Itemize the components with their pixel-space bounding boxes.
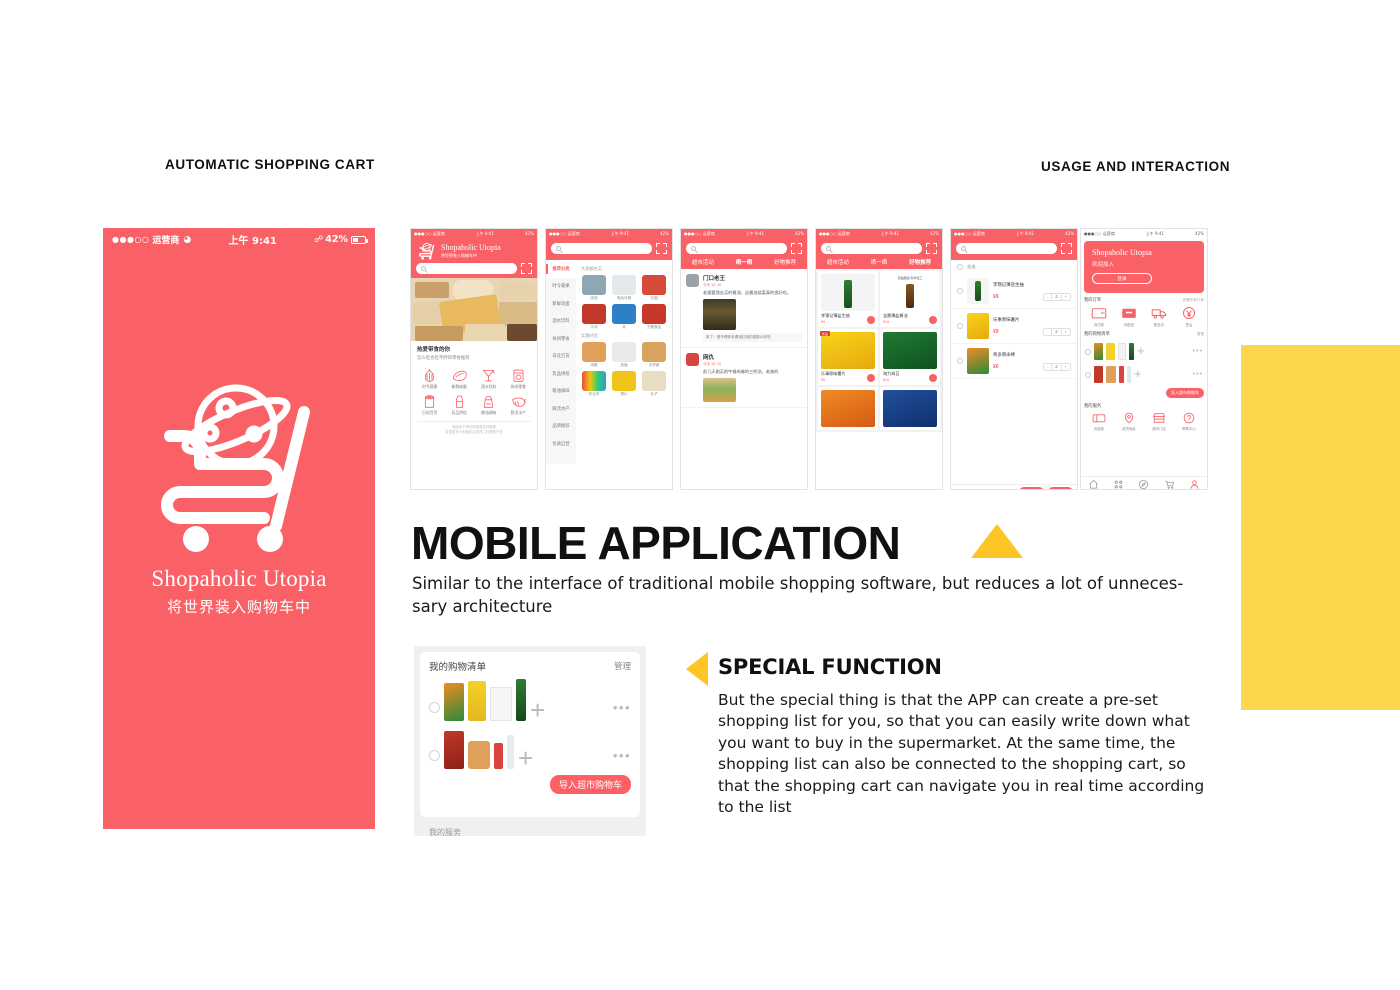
product-item[interactable]: 选面	[610, 342, 638, 368]
cart-icon	[1164, 479, 1175, 490]
category-item[interactable]: 新鲜肉蛋	[445, 368, 475, 390]
product-image	[642, 304, 666, 324]
product-thumb	[1127, 366, 1131, 383]
triangle-left-icon	[686, 652, 708, 686]
product-thumb	[516, 679, 526, 721]
import-to-cart-button[interactable]: 导入超市购物车	[1166, 388, 1204, 398]
brand-subtitle: 将世界装入购物车中	[441, 253, 501, 259]
select-all-row[interactable]: 全选	[951, 260, 1077, 274]
decrease-button[interactable]: -	[1044, 294, 1051, 300]
sidebar-item-9[interactable]: 品牌推荐	[546, 418, 576, 436]
vegetable-icon	[421, 368, 438, 383]
refund-icon	[1181, 306, 1197, 320]
quantity-stepper[interactable]: - 2 +	[1043, 293, 1071, 301]
sidebar-item-1[interactable]: 时令蔬果	[546, 278, 576, 296]
status-left: ●●●○○ 运营商	[819, 232, 850, 236]
decrease-button[interactable]: -	[1044, 364, 1051, 370]
triangle-up-icon	[971, 524, 1023, 558]
rice-bag-icon	[480, 394, 497, 409]
plus-icon[interactable]: +	[530, 703, 545, 717]
location-icon	[1122, 412, 1136, 424]
product-item[interactable]: 鸡蛋	[580, 342, 608, 368]
product-card[interactable]: 海力海苔 ¥13	[880, 329, 940, 385]
search-icon	[556, 246, 561, 251]
promo-subtitle: 怎么吃也吃不胖的零食推荐	[417, 355, 531, 361]
product-item[interactable]: 电动牙刷	[610, 275, 638, 301]
product-thumb	[1094, 366, 1103, 383]
shopping-cart-planet-logo	[144, 376, 334, 556]
home-brand-bar: Shopaholic Utopia 将世界装入购物车中	[411, 238, 537, 260]
order-status-item[interactable]: 售后	[1181, 306, 1197, 327]
category-label: 鲜活水产	[511, 411, 526, 416]
service-label: 优惠券	[1094, 426, 1104, 431]
sidebar-item-7[interactable]: 粮油调味	[546, 383, 576, 401]
list-item[interactable]: + •••	[429, 725, 631, 773]
service-item[interactable]: 超市门店	[1152, 412, 1166, 431]
category-label: 酒水饮料	[481, 385, 496, 390]
accent-panel	[1241, 345, 1400, 710]
shrimp-icon	[510, 394, 527, 409]
sidebar-label: 鲜活水产	[552, 406, 569, 412]
product-item[interactable]: 方便食品	[640, 304, 668, 330]
category-item[interactable]: 乳品烘焙	[445, 394, 475, 416]
shopping-list-section: 我的购物清单 管理 + •••	[1084, 331, 1204, 398]
bluetooth-icon: ☍	[314, 235, 323, 245]
category-item[interactable]: 时令蔬果	[415, 368, 445, 390]
category-products: 大家都在买 床品 电动牙刷 白酒 牛肉 米 方便食品 实惠好货 鸡蛋 选面	[576, 260, 672, 464]
radio-icon[interactable]	[957, 288, 963, 294]
product-label: 选面	[620, 363, 627, 368]
page-subtitle: Similar to the interface of traditional …	[412, 572, 1202, 619]
order-status-item[interactable]: 待配送	[1121, 306, 1137, 327]
product-image	[967, 348, 989, 374]
product-thumb	[1118, 343, 1126, 360]
category-sidebar: 推荐分类 时令蔬果 新鲜肉蛋 酒水饮料 休闲零食 日化百货 乳品烘焙 粮油调味 …	[546, 260, 576, 464]
decrease-button[interactable]: -	[1044, 329, 1051, 335]
radio-icon[interactable]	[1085, 349, 1091, 355]
brand-title: Shopaholic Utopia	[441, 243, 501, 252]
search-input[interactable]	[821, 243, 922, 254]
product-thumb	[494, 743, 503, 769]
detail-title: 我的购物清单	[429, 659, 486, 673]
cart-item[interactable]: 李锦记薄盐生抽 ¥9 - 2 +	[951, 274, 1077, 309]
product-price: ¥9	[993, 329, 999, 335]
post-comment: 老丁：怪不得你老婆烧红烧的菜那么好吃	[703, 333, 802, 342]
sidebar-item-cart[interactable]: 购物车	[1157, 479, 1182, 490]
scroll-hint-line2: 发现更多大家都在买的热门好物的产品	[417, 430, 531, 435]
list-item[interactable]: + •••	[1084, 340, 1204, 363]
increase-button[interactable]: +	[1062, 329, 1070, 335]
product-row: 牛肉 米 方便食品	[580, 304, 668, 330]
post-text: 老婆要我去买的酱油，这酱油烧菜真的很好吃。	[703, 290, 802, 296]
status-bar: ●●●○○ 运营商 上午 9:41 42%	[411, 229, 537, 238]
tab-market-events[interactable]: 超市活动	[692, 258, 714, 266]
carrier-label: 运营商	[152, 233, 179, 246]
sidebar-label: 优质自营	[552, 441, 569, 447]
order-status-item[interactable]: 配送中	[1151, 306, 1167, 327]
help-icon	[1182, 412, 1196, 424]
product-price: ¥9	[993, 294, 999, 300]
add-to-cart-icon[interactable]	[929, 374, 937, 382]
sidebar-label: 乳品烘焙	[552, 371, 569, 377]
sidebar-label: 品牌推荐	[552, 423, 569, 429]
brand-title: Shopaholic Utopia	[1092, 248, 1196, 257]
radio-icon[interactable]	[955, 489, 961, 491]
search-input[interactable]	[956, 243, 1057, 254]
status-left: ●●●○○ 运营商	[414, 232, 445, 236]
sidebar-item-4[interactable]: 休闲零食	[546, 330, 576, 348]
import-to-cart-button[interactable]: 导入超市购物车	[550, 775, 631, 794]
product-price: ¥6	[993, 364, 999, 370]
category-item[interactable]: 酒水饮料	[474, 368, 504, 390]
category-grid: 时令蔬果 新鲜肉蛋 酒水饮料 休闲零食 日化百货	[411, 363, 537, 419]
scan-icon[interactable]	[656, 243, 667, 254]
feed-tabs: 超市活动 晒一晒 好物推荐	[681, 258, 807, 269]
order-status-item[interactable]: 待付款	[1091, 306, 1107, 327]
add-to-cart-icon[interactable]	[867, 316, 875, 324]
radio-icon[interactable]	[429, 750, 440, 761]
wallet-icon	[1091, 306, 1107, 320]
product-label: 手抒面	[649, 363, 660, 368]
sidebar-label: 酒水饮料	[552, 318, 569, 324]
status-right: 42%	[660, 232, 669, 236]
select-all-label: 全选	[965, 489, 973, 491]
battery-label: 42%	[325, 234, 348, 245]
services-title: 我的服务	[414, 823, 646, 836]
status-right: 42%	[795, 232, 804, 236]
manage-link[interactable]: 管理	[1197, 332, 1204, 337]
product-name: 李锦记薄盐生抽	[993, 282, 1071, 288]
list-item[interactable]: + •••	[429, 673, 631, 725]
manage-link[interactable]: 管理	[614, 660, 631, 672]
phone-cart-screen: ●●●○○ 运营商 上午 9:41 42% 全选 李锦记薄盐生抽 ¥9	[950, 228, 1078, 490]
more-dots-icon[interactable]: •••	[1193, 371, 1203, 378]
quantity-stepper[interactable]: - 2 +	[1043, 328, 1071, 336]
total-value: ¥0	[990, 489, 995, 490]
product-card[interactable]: 李锦记薄盐生抽 ¥9	[818, 271, 878, 327]
product-card[interactable]: 原盐釀造 科学加工 宝鼎薄盐酱油 ¥13	[880, 271, 940, 327]
promo-banner-image[interactable]	[411, 278, 537, 341]
product-row: 鸡蛋 选面 手抒面	[580, 342, 668, 368]
phone-discover-screen: ●●●○○ 运营商 上午 9:41 42% 超市活动 晒一晒 好物推荐 门口老王…	[680, 228, 808, 490]
sidebar-item-5[interactable]: 日化百货	[546, 348, 576, 366]
search-input[interactable]	[551, 243, 652, 254]
order-label: 配送中	[1154, 322, 1164, 327]
add-to-cart-icon[interactable]	[929, 316, 937, 324]
tab-bar: 首页 分类 发现 购物车 我的	[1081, 476, 1207, 490]
tab-share[interactable]: 晒一晒	[871, 258, 888, 266]
view-all-orders-link[interactable]: 查看所有订单	[1182, 298, 1204, 303]
search-bar[interactable]	[411, 260, 537, 278]
total-label: 合计:	[977, 489, 986, 491]
category-label: 乳品烘焙	[452, 411, 467, 416]
sidebar-item-6[interactable]: 乳品烘焙	[546, 365, 576, 383]
product-label: 白酒	[650, 296, 657, 301]
product-label: 电动牙刷	[617, 296, 631, 301]
sidebar-item-profile[interactable]: 我的	[1182, 479, 1207, 490]
scroll-hint: 继续向下滑动探索更多好推荐 发现更多大家都在买的热门好物的产品	[417, 421, 531, 435]
category-item[interactable]: 日化百货	[415, 394, 445, 416]
post-author: 网仇	[703, 353, 802, 361]
sidebar-item-3[interactable]: 酒水饮料	[546, 313, 576, 331]
tab-market-events[interactable]: 超市活动	[827, 258, 849, 266]
product-card[interactable]	[818, 387, 878, 430]
battery-icon	[351, 236, 366, 244]
product-thumb	[1106, 366, 1116, 383]
cart-body: 全选 李锦记薄盐生抽 ¥9 - 2 +	[951, 260, 1077, 490]
radio-icon[interactable]	[429, 702, 440, 713]
status-right: 42%	[1065, 232, 1074, 236]
more-dots-icon[interactable]: •••	[1193, 348, 1203, 355]
services-section: 我的服务 优惠券 收货地址 超市门店	[1084, 403, 1204, 431]
sidebar-label: 推荐分类	[552, 266, 569, 272]
sidebar-item-home[interactable]: 首页	[1081, 479, 1106, 490]
increase-button[interactable]: +	[1062, 294, 1070, 300]
search-bar[interactable]	[816, 238, 942, 258]
cart-footer: 全选 合计: ¥0 加入清单 外送到家	[951, 484, 1077, 490]
service-item[interactable]: 帮助中心	[1182, 412, 1196, 431]
phone-product-grid-screen: ●●●○○ 运营商 上午 9:41 42% 超市活动 晒一晒 好物推荐 李锦记薄…	[815, 228, 943, 490]
product-thumb	[1106, 343, 1115, 360]
service-label: 收货地址	[1122, 426, 1136, 431]
product-image	[642, 371, 666, 391]
radio-icon[interactable]	[957, 358, 963, 364]
post-image[interactable]	[703, 378, 736, 402]
increase-button[interactable]: +	[1062, 364, 1070, 370]
deliver-home-button[interactable]: 外送到家	[1048, 487, 1073, 491]
product-image	[612, 371, 636, 391]
product-label: 丸子	[650, 392, 657, 397]
sidebar-label: 新鲜肉蛋	[552, 301, 569, 307]
product-image	[582, 371, 606, 391]
search-bar[interactable]	[546, 238, 672, 260]
product-grid: 李锦记薄盐生抽 ¥9 原盐釀造 科学加工 宝鼎薄盐酱油 ¥13 新品	[816, 269, 942, 432]
search-input[interactable]	[686, 243, 787, 254]
product-label: 鸡蛋	[590, 363, 597, 368]
product-card[interactable]	[880, 387, 940, 430]
service-label: 超市门店	[1152, 426, 1166, 431]
search-bar[interactable]	[681, 238, 807, 258]
product-item[interactable]: 手抒面	[640, 342, 668, 368]
product-image	[582, 342, 606, 362]
sidebar-item-category[interactable]: 分类	[1106, 479, 1131, 490]
feed-post[interactable]: 网仇 今天 10: 12 前几天刚买的午餐肉做的三明治，老香的	[681, 348, 807, 408]
radio-icon[interactable]	[1085, 372, 1091, 378]
quantity-value: 2	[1051, 329, 1061, 335]
status-right: 42%	[930, 232, 939, 236]
promo-title: 热爱带食的你	[417, 345, 531, 353]
coupon-icon	[1092, 412, 1106, 424]
search-icon	[691, 246, 696, 251]
grid-icon	[1113, 479, 1124, 490]
avatar	[686, 353, 699, 366]
sidebar-item-8[interactable]: 鲜活水产	[546, 400, 576, 418]
status-center: 上午 9:41	[715, 232, 795, 236]
add-to-cart-icon[interactable]	[867, 374, 875, 382]
product-item[interactable]: 米	[610, 304, 638, 330]
radio-icon[interactable]	[957, 264, 963, 270]
box-icon	[1121, 306, 1137, 320]
product-row: 作业本 薄片 丸子	[580, 371, 668, 397]
product-image	[967, 313, 989, 339]
product-label: 薄片	[620, 392, 627, 397]
quantity-value: 2	[1051, 364, 1061, 370]
product-name: 奇多牌米棒	[993, 352, 1071, 358]
product-thumb	[1129, 343, 1134, 360]
scan-icon[interactable]	[1061, 243, 1072, 254]
product-item[interactable]: 作业本	[580, 371, 608, 397]
promo-caption: 热爱带食的你 怎么吃也吃不胖的零食推荐	[411, 341, 537, 363]
plus-icon[interactable]: +	[1134, 369, 1142, 379]
order-label: 待配送	[1124, 322, 1134, 327]
product-image	[612, 275, 636, 295]
wifi-icon: ◕	[183, 235, 191, 245]
product-thumb	[468, 741, 490, 769]
product-row: 床品 电动牙刷 白酒	[580, 275, 668, 301]
status-bar: ●●●○○ 运营商 上午 9:41 42%	[951, 229, 1077, 238]
status-bar: ●●●○○ 运营商 ◕ 上午 9:41 ☍ 42%	[103, 228, 375, 248]
sidebar-item-10[interactable]: 优质自营	[546, 435, 576, 453]
product-item[interactable]: 丸子	[640, 371, 668, 397]
group-title: 实惠好货	[581, 333, 668, 339]
product-thumb	[468, 681, 486, 721]
product-image	[642, 275, 666, 295]
service-item[interactable]: 优惠券	[1092, 412, 1106, 431]
product-image: 原盐釀造 科学加工	[883, 274, 937, 311]
more-dots-icon[interactable]: •••	[613, 700, 631, 715]
brand-subtitle: 将世界装入购物车中	[167, 596, 311, 617]
home-icon	[1088, 479, 1099, 490]
tab-share[interactable]: 晒一晒	[736, 258, 753, 266]
sidebar-item-0[interactable]: 推荐分类	[546, 260, 576, 278]
special-function-body: But the special thing is that the APP ca…	[718, 690, 1218, 818]
avatar	[686, 274, 699, 287]
status-center: 上午 9:41	[580, 232, 660, 236]
status-right: 42%	[525, 232, 534, 236]
category-label: 日化百货	[422, 411, 437, 416]
cart-item[interactable]: 奇多牌米棒 ¥6 - 2 +	[951, 344, 1077, 379]
category-layout: 推荐分类 时令蔬果 新鲜肉蛋 酒水饮料 休闲零食 日化百货 乳品烘焙 粮油调味 …	[546, 260, 672, 464]
status-left: ●●●○○ 运营商	[549, 232, 580, 236]
product-thumb	[1119, 366, 1124, 383]
product-image	[612, 304, 636, 324]
snack-icon	[510, 368, 527, 383]
product-card[interactable]: 新品 乐事原味薯片 ¥9	[818, 329, 878, 385]
post-text: 前几天刚买的午餐肉做的三明治，老香的	[703, 369, 802, 375]
home-body: 热爱带食的你 怎么吃也吃不胖的零食推荐 时令蔬果 新鲜肉蛋 酒水饮料	[411, 278, 537, 490]
quantity-value: 2	[1051, 294, 1061, 300]
product-image	[883, 390, 937, 427]
scan-icon[interactable]	[521, 263, 532, 274]
product-label: 米	[622, 325, 626, 330]
phone-category-screen: ●●●○○ 运营商 上午 9:41 42% 推荐分类 时令蔬果 新鲜肉蛋 酒水饮…	[545, 228, 673, 490]
product-item[interactable]: 白酒	[640, 275, 668, 301]
product-image	[967, 278, 989, 304]
product-thumb	[507, 735, 514, 769]
cart-item[interactable]: 乐事原味薯片 ¥9 - 2 +	[951, 309, 1077, 344]
phone-profile-screen: ●●●○○ 运营商 上午 9:41 42% Shopaholic Utopia …	[1080, 228, 1208, 490]
status-bar: ●●●○○ 运营商 上午 9:41 42%	[816, 229, 942, 238]
brand-title: Shopaholic Utopia	[151, 566, 326, 592]
page-title: MOBILE APPLICATION	[411, 516, 900, 570]
search-bar[interactable]	[951, 238, 1077, 260]
scan-icon[interactable]	[926, 243, 937, 254]
sidebar-item-2[interactable]: 新鲜肉蛋	[546, 295, 576, 313]
category-label: 粮油调味	[481, 411, 496, 416]
clock-label: 上午 9:41	[191, 232, 314, 247]
sidebar-label: 时令蔬果	[552, 283, 569, 289]
store-icon	[1152, 412, 1166, 424]
radio-icon[interactable]	[957, 323, 963, 329]
product-thumb	[444, 683, 464, 721]
post-image[interactable]	[703, 299, 736, 330]
service-item[interactable]: 收货地址	[1122, 412, 1136, 431]
add-to-list-button[interactable]: 加入清单	[1019, 487, 1044, 491]
sidebar-label: 粮油调味	[552, 388, 569, 394]
shopping-cart-planet-logo	[417, 242, 437, 260]
phone-home-screen: ●●●○○ 运营商 上午 9:41 42% Shopaholic Utopia …	[410, 228, 538, 490]
search-icon	[421, 266, 426, 271]
welcome-label: 欢迎加入	[1092, 260, 1196, 268]
product-item[interactable]: 床品	[580, 275, 608, 301]
scan-icon[interactable]	[791, 243, 802, 254]
quantity-stepper[interactable]: - 2 +	[1043, 363, 1071, 371]
profile-body: Shopaholic Utopia 欢迎加入 登录 我的订单 查看所有订单 待付…	[1081, 238, 1207, 490]
status-left: ●●●○○ 运营商	[954, 232, 985, 236]
category-item[interactable]: 休闲零食	[504, 368, 534, 390]
user-icon	[1189, 479, 1200, 490]
search-icon	[826, 246, 831, 251]
status-bar: ●●●○○ 运营商 上午 9:41 42%	[546, 229, 672, 238]
product-label: 作业本	[589, 392, 600, 397]
search-input[interactable]	[416, 263, 517, 274]
list-item[interactable]: + •••	[1084, 363, 1204, 386]
product-grid-body: 李锦记薄盐生抽 ¥9 原盐釀造 科学加工 宝鼎薄盐酱油 ¥13 新品	[816, 269, 942, 490]
section-title: 我的购物清单	[1084, 331, 1110, 337]
status-left: ●●●○○ 运营商	[1084, 232, 1115, 236]
product-label: 方便食品	[647, 325, 661, 330]
sidebar-label: 日化百货	[552, 353, 569, 359]
login-button[interactable]: 登录	[1092, 273, 1152, 284]
status-right: 42%	[1195, 232, 1204, 236]
category-label: 新鲜肉蛋	[452, 385, 467, 390]
tab-recommend[interactable]: 好物推荐	[909, 258, 931, 266]
signal-dots-icon: ●●●○○	[112, 235, 149, 244]
plus-icon[interactable]: +	[518, 751, 533, 765]
tab-recommend[interactable]: 好物推荐	[774, 258, 796, 266]
meat-icon	[451, 368, 468, 383]
category-item[interactable]: 粮油调味	[474, 394, 504, 416]
compass-icon	[1138, 479, 1149, 490]
product-image	[883, 332, 937, 369]
category-item[interactable]: 鲜活水产	[504, 394, 534, 416]
plus-icon[interactable]: +	[1137, 346, 1145, 356]
category-body: 推荐分类 时令蔬果 新鲜肉蛋 酒水饮料 休闲零食 日化百货 乳品烘焙 粮油调味 …	[546, 260, 672, 490]
group-title: 大家都在买	[581, 266, 668, 272]
feed-post[interactable]: 门口老王 今天 12: 10 老婆要我去买的酱油，这酱油烧菜真的很好吃。 老丁：…	[681, 269, 807, 348]
service-label: 帮助中心	[1182, 426, 1196, 431]
sidebar-item-discover[interactable]: 发现	[1131, 479, 1156, 490]
product-image	[821, 332, 875, 369]
order-label: 售后	[1186, 322, 1193, 327]
product-item[interactable]: 薄片	[610, 371, 638, 397]
post-time: 今天 10: 12	[703, 362, 802, 367]
product-label: 牛肉	[590, 325, 597, 330]
select-all-label: 全选	[967, 264, 975, 270]
more-dots-icon[interactable]: •••	[613, 748, 631, 763]
product-item[interactable]: 牛肉	[580, 304, 608, 330]
orders-section: 我的订单 查看所有订单 待付款 待配送 配送中	[1084, 297, 1204, 327]
